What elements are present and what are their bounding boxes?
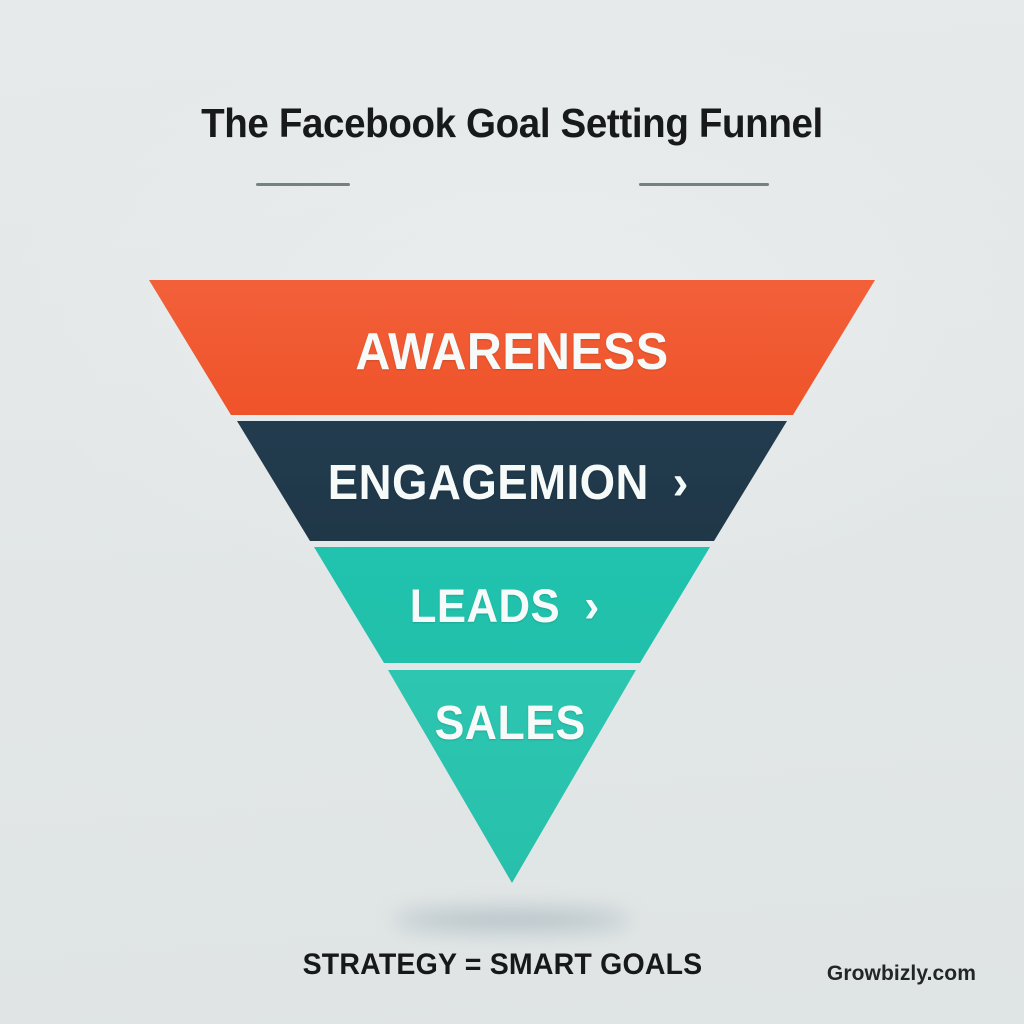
watermark-brand: Growbizly.com [827, 962, 976, 986]
funnel-stage-awareness[interactable] [149, 280, 875, 415]
infographic-canvas: The Facebook Goal Setting Funnel [0, 0, 1024, 1024]
funnel-stage-sales[interactable] [388, 670, 636, 883]
funnel-drop-shadow [394, 910, 630, 930]
funnel-stage-engagement[interactable] [237, 421, 787, 541]
funnel-stage-leads[interactable] [314, 547, 710, 663]
funnel-diagram [0, 0, 1024, 1024]
